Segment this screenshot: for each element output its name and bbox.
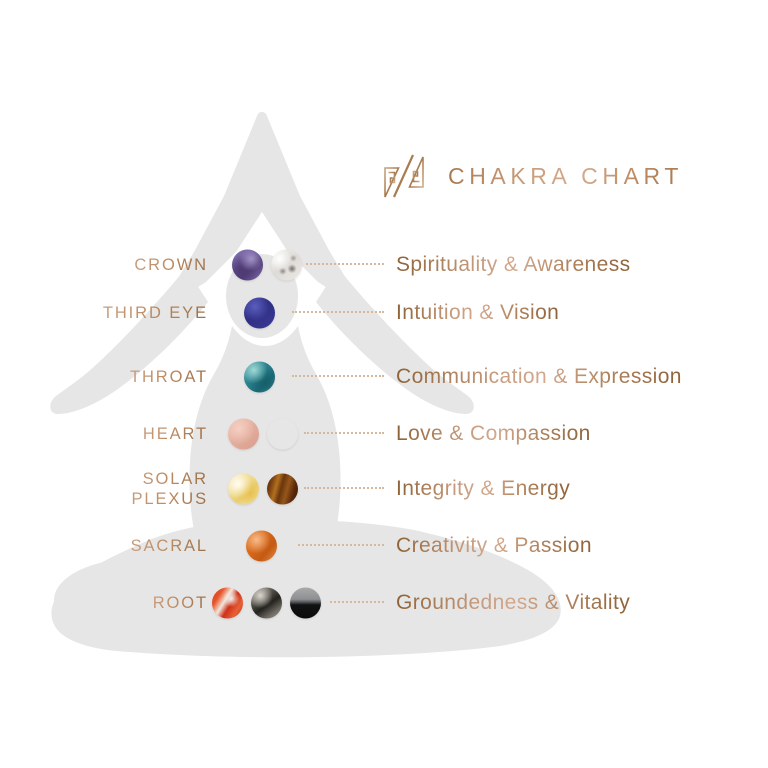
chakra-description-heart: Love & Compassion bbox=[396, 422, 591, 446]
chakra-label-third-eye: THIRD EYE bbox=[103, 303, 208, 323]
page-title: CHAKRA CHART bbox=[448, 163, 683, 190]
connector-line-solar-plexus bbox=[304, 487, 384, 491]
chakra-label-sacral: SACRAL bbox=[131, 536, 208, 556]
stone-malachite bbox=[267, 419, 298, 450]
chakra-stones-crown bbox=[232, 250, 302, 281]
chakra-stones-sacral bbox=[246, 531, 277, 562]
chakra-stones-throat bbox=[244, 362, 275, 393]
chakra-label-heart: HEART bbox=[143, 424, 208, 444]
chakra-description-crown: Spirituality & Awareness bbox=[396, 253, 631, 277]
stone-hematite bbox=[251, 588, 282, 619]
stone-carnelian bbox=[246, 531, 277, 562]
chakra-label-throat: THROAT bbox=[130, 367, 208, 387]
chakra-stones-root bbox=[212, 588, 321, 619]
chakra-stones-third-eye bbox=[244, 298, 275, 329]
greek-key-meander-logo-icon bbox=[382, 152, 426, 200]
chakra-description-sacral: Creativity & Passion bbox=[396, 534, 592, 558]
connector-line-throat bbox=[292, 375, 384, 379]
stone-lapis-lazuli bbox=[244, 298, 275, 329]
stone-tigers-eye bbox=[267, 474, 298, 505]
connector-line-third-eye bbox=[292, 311, 384, 315]
chakra-description-throat: Communication & Expression bbox=[396, 365, 682, 389]
chakra-description-third-eye: Intuition & Vision bbox=[396, 301, 559, 325]
chakra-description-root: Groundedness & Vitality bbox=[396, 591, 630, 615]
chakra-label-root: ROOT bbox=[153, 593, 208, 613]
stone-amethyst bbox=[232, 250, 263, 281]
chart-header: CHAKRA CHART bbox=[382, 152, 683, 200]
connector-line-crown bbox=[306, 263, 384, 267]
connector-line-heart bbox=[304, 432, 384, 436]
chakra-description-solar-plexus: Integrity & Energy bbox=[396, 477, 570, 501]
chakra-chart-page: CHAKRA CHART CROWN Spirituality & Awaren… bbox=[0, 0, 768, 768]
chakra-stones-solar-plexus bbox=[228, 474, 298, 505]
connector-line-sacral bbox=[298, 544, 384, 548]
stone-black-onyx bbox=[290, 588, 321, 619]
stone-citrine bbox=[228, 474, 259, 505]
chakra-label-solar-plexus: SOLAR PLEXUS bbox=[131, 469, 208, 509]
stone-rose-quartz bbox=[228, 419, 259, 450]
stone-howlite bbox=[271, 250, 302, 281]
chakra-stones-heart bbox=[228, 419, 298, 450]
stone-red-jasper bbox=[212, 588, 243, 619]
connector-line-root bbox=[330, 601, 384, 605]
stone-amazonite bbox=[244, 362, 275, 393]
chakra-label-crown: CROWN bbox=[134, 255, 208, 275]
